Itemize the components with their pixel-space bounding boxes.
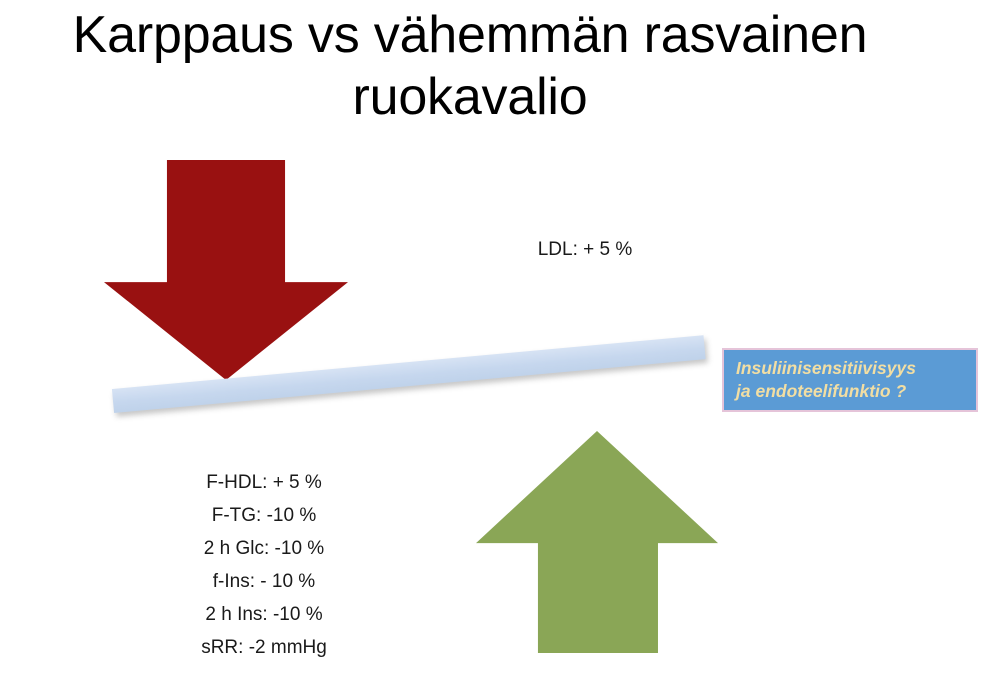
list-item: sRR: -2 mmHg [148, 631, 380, 664]
list-item: 2 h Glc: -10 % [148, 532, 380, 565]
balance-beam-container [113, 365, 707, 435]
page-title: Karppaus vs vähemmän rasvainen ruokavali… [0, 4, 940, 128]
list-item: 2 h Ins: -10 % [148, 598, 380, 631]
list-item: F-HDL: + 5 % [148, 466, 380, 499]
callout-box: Insuliinisensitiivisyys ja endoteelifunk… [722, 348, 978, 412]
callout-line-2: ja endoteelifunktio ? [736, 380, 964, 403]
red-down-arrow-icon [104, 160, 348, 380]
slide-canvas: Karppaus vs vähemmän rasvainen ruokavali… [0, 0, 989, 675]
callout-line-1: Insuliinisensitiivisyys [736, 357, 964, 380]
list-item: f-Ins: - 10 % [148, 565, 380, 598]
metrics-list: F-HDL: + 5 % F-TG: -10 % 2 h Glc: -10 % … [148, 466, 380, 664]
green-up-arrow-icon [476, 431, 718, 653]
ldl-label: LDL: + 5 % [460, 238, 710, 262]
list-item: F-TG: -10 % [148, 499, 380, 532]
